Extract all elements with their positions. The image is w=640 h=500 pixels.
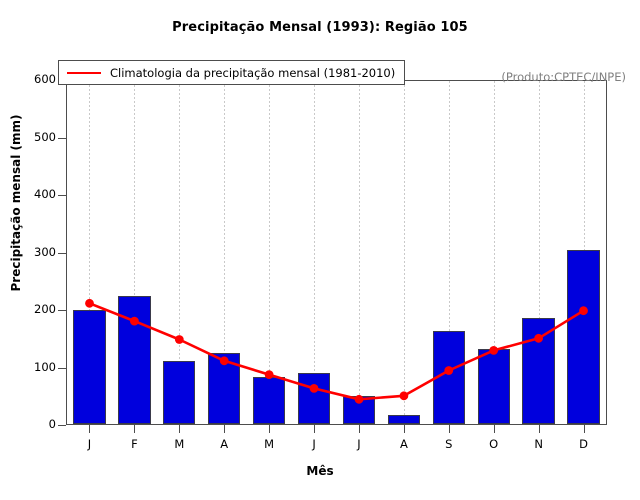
x-axis-tick-label: F	[114, 437, 154, 451]
y-axis-title: Precipitação mensal (mm)	[9, 88, 23, 318]
climatology-marker	[85, 299, 94, 308]
x-axis-tick	[89, 425, 90, 433]
y-axis-tick	[58, 310, 66, 311]
x-axis-tick-label: M	[159, 437, 199, 451]
x-axis-tick	[404, 425, 405, 433]
legend-entry-label: Climatologia da precipitação mensal (198…	[110, 66, 395, 80]
x-axis-tick-label: M	[249, 437, 289, 451]
x-axis-tick	[269, 425, 270, 433]
x-axis-tick	[134, 425, 135, 433]
y-axis-tick-label: 600	[10, 72, 56, 86]
x-axis-title: Mês	[0, 464, 640, 478]
climatology-marker	[444, 366, 453, 375]
producer-credit: (Produto:CPTEC/INPE)	[501, 70, 626, 84]
climatology-marker	[355, 395, 364, 404]
x-axis-tick-label: S	[429, 437, 469, 451]
plot-area	[66, 80, 607, 425]
climatology-marker	[310, 384, 319, 393]
x-axis-tick-label: J	[294, 437, 334, 451]
x-axis-tick-label: A	[384, 437, 424, 451]
x-axis-tick	[314, 425, 315, 433]
climatology-line-series	[67, 81, 606, 424]
chart-legend: Climatologia da precipitação mensal (198…	[58, 60, 405, 85]
y-axis-tick	[58, 253, 66, 254]
chart-container: Precipitação Mensal (1993): Região 105 0…	[0, 0, 640, 500]
x-axis-tick	[449, 425, 450, 433]
x-axis-tick-label: J	[69, 437, 109, 451]
x-axis-tick-label: J	[339, 437, 379, 451]
legend-line-swatch	[67, 72, 101, 74]
climatology-marker	[489, 346, 498, 355]
x-axis-tick	[584, 425, 585, 433]
x-axis-tick	[359, 425, 360, 433]
x-axis-tick-label: O	[474, 437, 514, 451]
y-axis-tick	[58, 138, 66, 139]
y-axis-tick	[58, 425, 66, 426]
chart-title: Precipitação Mensal (1993): Região 105	[0, 20, 640, 35]
climatology-marker	[534, 334, 543, 343]
y-axis-tick-label: 0	[10, 417, 56, 431]
y-axis-tick	[58, 368, 66, 369]
y-axis-tick	[58, 195, 66, 196]
x-axis-tick-label: D	[564, 437, 604, 451]
climatology-marker	[579, 306, 588, 315]
climatology-marker	[220, 356, 229, 365]
y-axis-tick-label: 100	[10, 360, 56, 374]
x-axis-tick-label: A	[204, 437, 244, 451]
climatology-line	[90, 303, 584, 399]
x-axis-tick	[539, 425, 540, 433]
plot-inner	[67, 81, 606, 424]
climatology-marker	[175, 335, 184, 344]
x-axis-tick	[494, 425, 495, 433]
climatology-marker	[130, 317, 139, 326]
x-axis-tick	[179, 425, 180, 433]
x-axis-tick-label: N	[519, 437, 559, 451]
climatology-marker	[265, 370, 274, 379]
x-axis-tick	[224, 425, 225, 433]
climatology-marker	[400, 391, 409, 400]
